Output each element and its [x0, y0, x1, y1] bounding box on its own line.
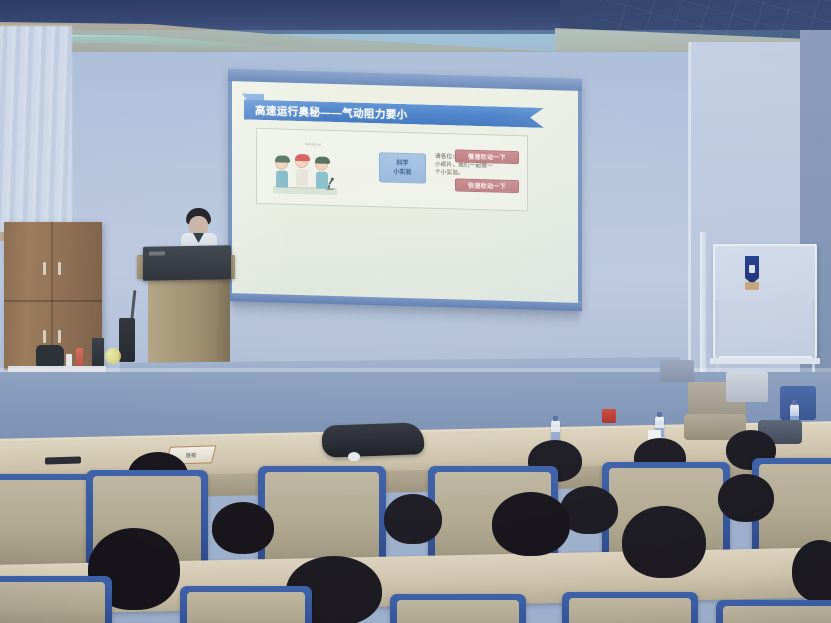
illustration-child-left: [275, 156, 288, 187]
seat-backrest-pad: [397, 600, 519, 623]
illustration-caption: Science: [305, 141, 321, 146]
child-hair-icon: [275, 155, 290, 162]
pennant-mark-icon: [749, 265, 755, 273]
window-curtain: [0, 26, 72, 238]
illustration-child-center: [295, 155, 308, 186]
child-head-icon: [275, 156, 288, 169]
child-hair-icon: [295, 153, 310, 160]
red-cup: [602, 409, 616, 423]
storage-box-right-2: [726, 372, 768, 402]
cabinet-handle-upper-right: [58, 262, 61, 275]
laptop: [143, 245, 231, 281]
bottle-cap: [657, 412, 662, 417]
red-bottle-on-table: [76, 348, 83, 367]
pennant-tassel-icon: [745, 282, 759, 290]
whiteboard: [713, 244, 817, 358]
slide-button-fast-blow-label: 快速吹动一下: [468, 181, 506, 191]
yellow-lamp: [105, 348, 121, 364]
seat-backrest-pad: [187, 592, 305, 623]
laptop-logo: [149, 251, 165, 255]
child-head-icon: [295, 155, 308, 168]
slide-button-slow-blow: 慢速吹动一下: [455, 149, 519, 164]
child-body-icon: [276, 170, 288, 187]
bottle-cap: [553, 416, 558, 421]
student-head: [384, 494, 442, 544]
chip-line-1: 科学: [396, 159, 408, 167]
seat-backrest-pad: [723, 606, 831, 623]
slide-button-slow-blow-label: 慢速吹动一下: [468, 152, 506, 162]
classroom-photo-scene: 高速运行奥秘——气动阻力要小 Science: [0, 0, 831, 623]
student-head: [718, 474, 774, 522]
bottle-cap: [792, 400, 797, 405]
cabinet-handle-lower-right: [58, 330, 61, 343]
whiteboard-marker-tray: [710, 358, 820, 364]
seat[interactable]: [390, 594, 526, 623]
black-jacket: [321, 422, 424, 458]
slide-title: 高速运行奥秘——气动阻力要小: [244, 102, 408, 122]
seat[interactable]: [716, 600, 831, 623]
wall-vent: [660, 360, 694, 382]
slide-button-fast-blow: 快速吹动一下: [455, 178, 519, 193]
cabinet-horizontal-seam: [4, 300, 102, 302]
slide-title-banner: 高速运行奥秘——气动阻力要小: [244, 100, 544, 128]
seat[interactable]: [180, 586, 312, 623]
black-bag-on-table: [36, 345, 64, 367]
seat-backrest-pad: [0, 582, 105, 623]
cabinet-handle-lower-left: [43, 330, 46, 343]
presentation-slide: 高速运行奥秘——气动阻力要小 Science: [232, 81, 578, 303]
seat[interactable]: [258, 466, 386, 570]
slide-content-box: Science: [256, 128, 528, 212]
projection-screen-surface: 高速运行奥秘——气动阻力要小 Science: [232, 81, 578, 303]
child-head-icon: [315, 157, 328, 170]
floor-speaker: [119, 318, 135, 362]
seat-backrest-pad: [265, 472, 379, 566]
seat[interactable]: [0, 576, 112, 623]
child-hair-icon: [315, 156, 330, 163]
white-mouse: [348, 452, 360, 461]
student-head-front: [492, 492, 570, 556]
science-experiment-chip: 科学 小实验: [379, 152, 426, 183]
child-body-icon: [296, 169, 308, 186]
chip-line-2: 小实验: [393, 168, 411, 177]
cabinet-handle-upper-left: [43, 262, 46, 275]
seat-backrest-pad: [569, 598, 691, 623]
microscope-icon: [324, 176, 335, 191]
name-placard-text: 班级: [185, 451, 196, 458]
remote-control: [45, 456, 81, 464]
seat[interactable]: [562, 592, 698, 623]
student-head: [212, 502, 274, 554]
science-illustration: Science: [271, 139, 339, 197]
pennant-banner-icon: [745, 256, 759, 284]
side-speaker: [92, 338, 104, 368]
seat-backrest-pad: [0, 480, 97, 566]
student-head-front: [622, 506, 706, 578]
